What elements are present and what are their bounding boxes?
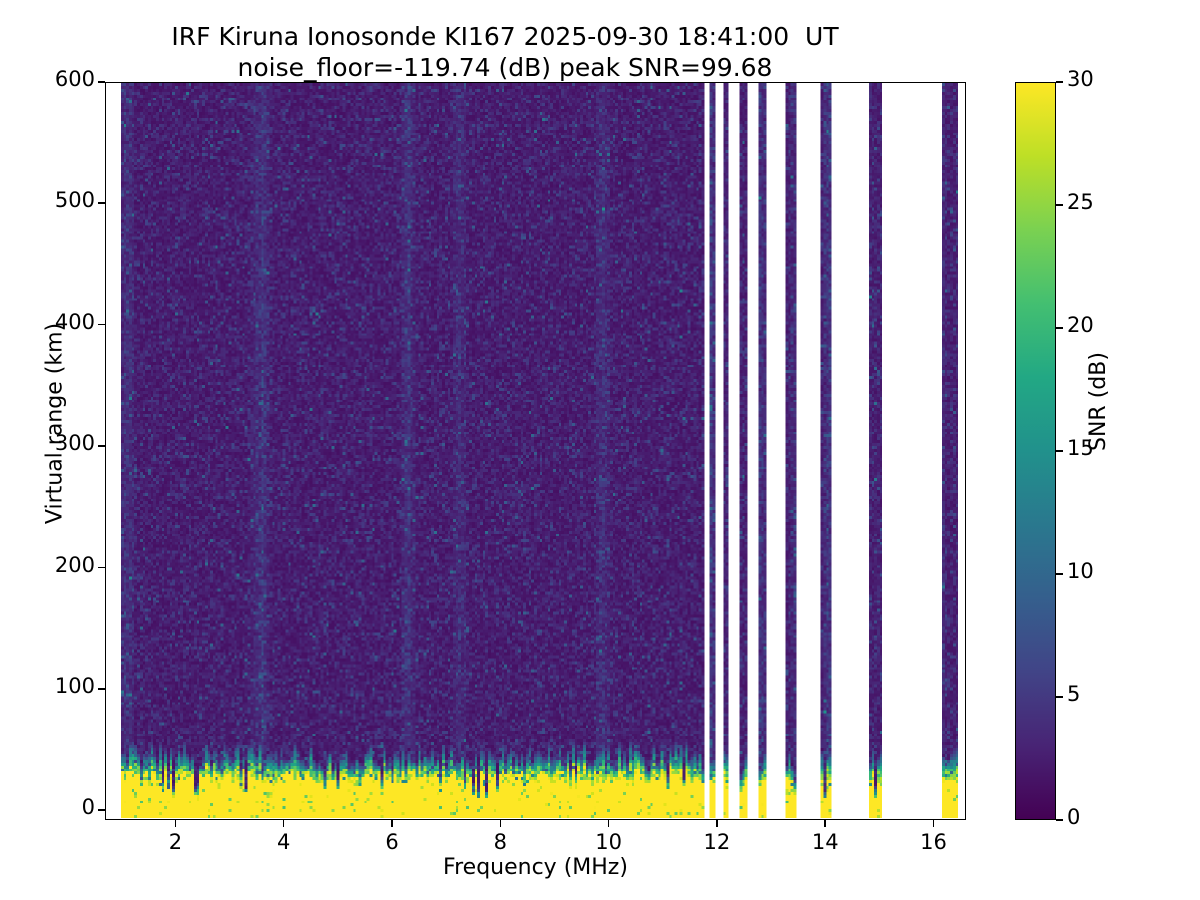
- x-tick-label: 2: [135, 830, 215, 854]
- x-axis-label: Frequency (MHz): [105, 855, 966, 880]
- ionogram-figure: IRF Kiruna Ionosonde KI167 2025-09-30 18…: [0, 0, 1200, 900]
- y-tick-label: 0: [82, 795, 95, 819]
- x-tick-mark: [283, 820, 285, 827]
- colorbar-ticks: 051015202530: [1056, 82, 1176, 820]
- y-tick-mark: [98, 445, 105, 447]
- x-tick-label: 8: [460, 830, 540, 854]
- figure-title: IRF Kiruna Ionosonde KI167 2025-09-30 18…: [0, 22, 1010, 83]
- x-tick-mark: [608, 820, 610, 827]
- x-tick-mark: [933, 820, 935, 827]
- y-tick-mark: [98, 202, 105, 204]
- colorbar-tick-mark: [1056, 81, 1063, 83]
- x-tick-label: 10: [569, 830, 649, 854]
- colorbar-tick-mark: [1056, 450, 1063, 452]
- colorbar[interactable]: 051015202530: [1015, 82, 1056, 820]
- x-tick-label: 4: [244, 830, 324, 854]
- y-tick-mark: [98, 688, 105, 690]
- colorbar-tick-label: 10: [1067, 559, 1094, 583]
- colorbar-tick-mark: [1056, 204, 1063, 206]
- colorbar-tick-mark: [1056, 819, 1063, 821]
- x-tick-label: 6: [352, 830, 432, 854]
- colorbar-tick-mark: [1056, 327, 1063, 329]
- colorbar-tick-mark: [1056, 696, 1063, 698]
- colorbar-tick-label: 5: [1067, 682, 1080, 706]
- colorbar-tick-mark: [1056, 573, 1063, 575]
- title-line-1: IRF Kiruna Ionosonde KI167 2025-09-30 18…: [0, 22, 1010, 53]
- y-tick-mark: [98, 81, 105, 83]
- x-tick-mark: [175, 820, 177, 827]
- x-tick-label: 12: [677, 830, 757, 854]
- ionogram-plot-area[interactable]: [105, 82, 966, 820]
- colorbar-gradient: [1015, 82, 1056, 820]
- y-axis-label: Virtual range (km): [43, 54, 68, 794]
- ionogram-heatmap-canvas: [106, 83, 965, 819]
- colorbar-tick-label: 30: [1067, 67, 1094, 91]
- colorbar-tick-label: 0: [1067, 805, 1080, 829]
- x-tick-label: 14: [785, 830, 865, 854]
- title-line-2: noise_floor=-119.74 (dB) peak SNR=99.68: [0, 53, 1010, 84]
- y-tick-mark: [98, 809, 105, 811]
- x-tick-mark: [391, 820, 393, 827]
- x-tick-mark: [500, 820, 502, 827]
- colorbar-tick-label: 20: [1067, 313, 1094, 337]
- x-tick-mark: [824, 820, 826, 827]
- colorbar-label: SNR (dB): [1086, 352, 1111, 451]
- y-tick-mark: [98, 324, 105, 326]
- x-tick-mark: [716, 820, 718, 827]
- x-tick-label: 16: [894, 830, 974, 854]
- colorbar-tick-label: 25: [1067, 190, 1094, 214]
- y-tick-mark: [98, 567, 105, 569]
